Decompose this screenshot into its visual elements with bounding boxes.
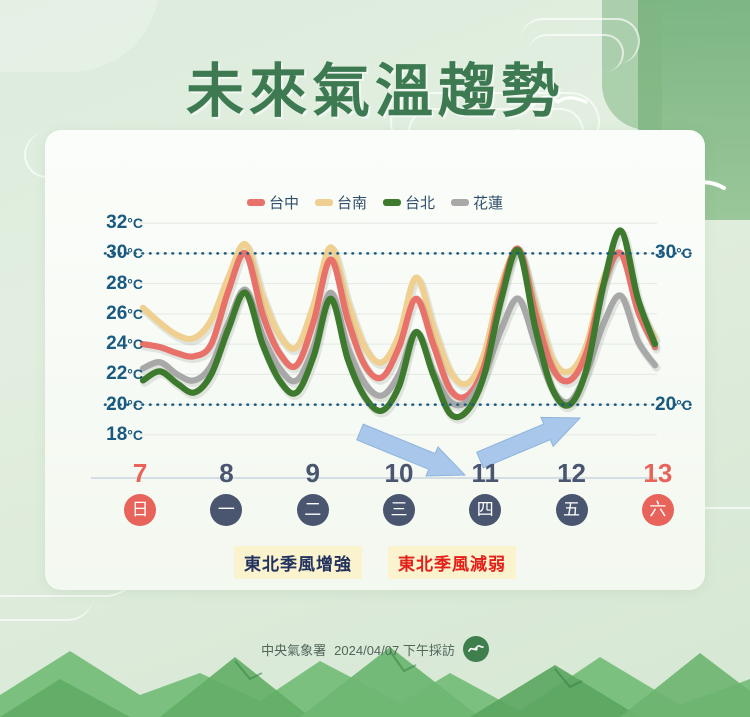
y-tick-label: 26°C: [106, 303, 143, 325]
footer-timestamp: 2024/04/07 下午採訪: [334, 640, 455, 659]
page-title: 未來氣溫趨勢: [0, 44, 750, 128]
day-column[interactable]: 13六: [615, 458, 701, 526]
weekday-badge: 五: [556, 494, 588, 526]
y-tick-label: 20°C: [106, 394, 143, 416]
day-number: 10: [356, 458, 442, 488]
y-tick-label: 28°C: [106, 273, 143, 295]
note-monsoon-strengthen: 東北季風增強: [234, 546, 362, 579]
annotation-notes: 東北季風增強 東北季風減弱: [0, 546, 750, 579]
reference-label: 30°C: [655, 242, 692, 264]
weekday-badge: 日: [124, 494, 156, 526]
y-tick-label: 30°C: [106, 242, 143, 264]
weekday-badge: 三: [383, 494, 415, 526]
y-tick-label: 18°C: [106, 424, 143, 446]
day-column[interactable]: 7日: [97, 458, 183, 526]
day-number: 12: [528, 458, 614, 488]
day-number: 7: [97, 458, 183, 488]
y-tick-label: 22°C: [106, 363, 143, 385]
day-column[interactable]: 12五: [528, 458, 614, 526]
day-number: 11: [442, 458, 528, 488]
weekday-badge: 四: [469, 494, 501, 526]
reference-label: 20°C: [655, 394, 692, 416]
note-monsoon-weaken: 東北季風減弱: [388, 546, 516, 579]
weekday-badge: 六: [642, 494, 674, 526]
day-number: 13: [615, 458, 701, 488]
mountain-decoration: [0, 617, 750, 717]
y-tick-label: 24°C: [106, 333, 143, 355]
footer-agency: 中央氣象署: [261, 640, 326, 659]
day-column[interactable]: 9二: [270, 458, 356, 526]
day-number: 8: [183, 458, 269, 488]
footer: 中央氣象署 2024/04/07 下午採訪: [0, 636, 750, 662]
weekday-badge: 一: [210, 494, 242, 526]
day-axis: 7日8一9二10三11四12五13六: [97, 458, 701, 526]
day-column[interactable]: 11四: [442, 458, 528, 526]
day-column[interactable]: 10三: [356, 458, 442, 526]
weekday-badge: 二: [297, 494, 329, 526]
infographic-root: 未來氣溫趨勢 台中 台南 台北 花蓮 3: [0, 0, 750, 717]
chart-card: 台中 台南 台北 花蓮 32°C30°C28°C26°C24°C22°C20°C…: [45, 130, 705, 590]
cwa-logo-icon: [463, 636, 489, 662]
y-tick-label: 32°C: [106, 212, 143, 234]
day-column[interactable]: 8一: [183, 458, 269, 526]
day-number: 9: [270, 458, 356, 488]
